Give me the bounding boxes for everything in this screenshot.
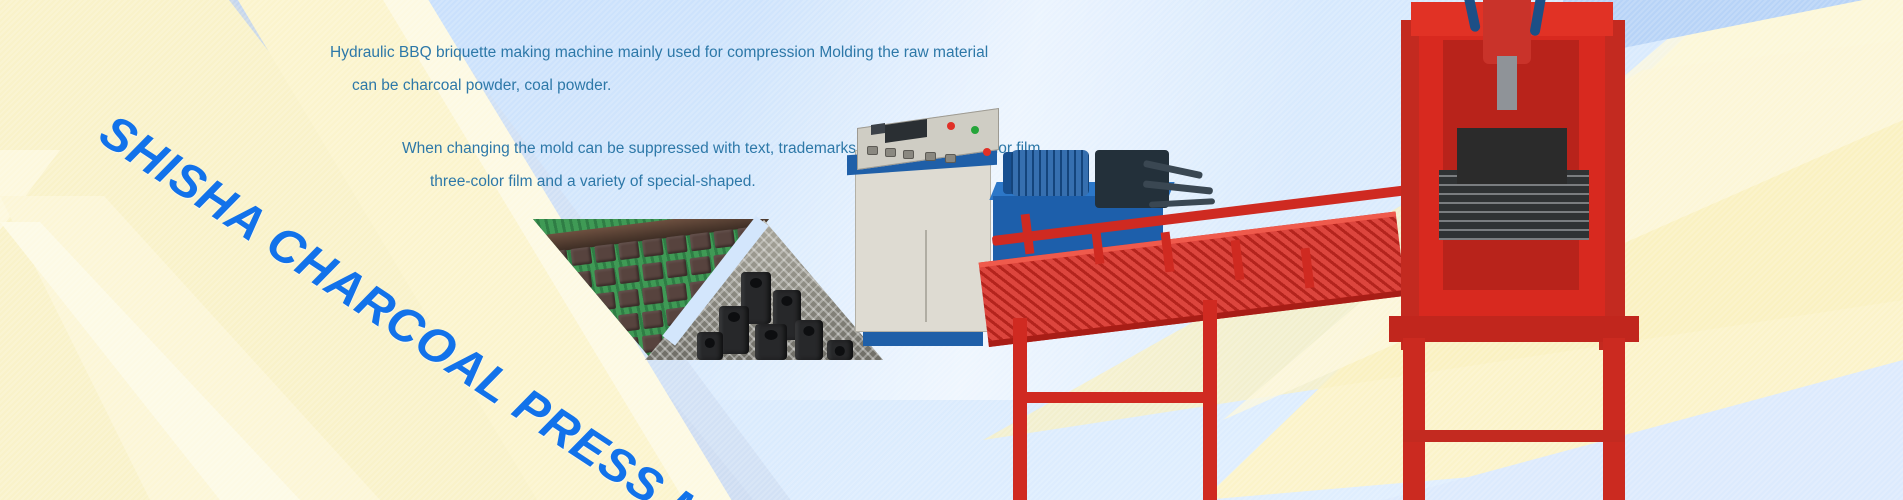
- control-knob[interactable]: [903, 150, 914, 159]
- press-leg-left: [1403, 338, 1425, 500]
- charcoal-tube: [795, 320, 823, 360]
- electric-motor: [1011, 150, 1089, 196]
- conveyor-leg: [1013, 318, 1027, 500]
- press-mold-slot: [1457, 128, 1567, 184]
- indicator-light-red: [947, 122, 955, 130]
- product-banner: SHISHA CHARCOAL PRESS MACHINE Hydraulic …: [0, 0, 1903, 500]
- hydraulic-valve-block: [1095, 150, 1169, 208]
- control-knob[interactable]: [867, 146, 878, 155]
- conveyor-cross-brace: [1015, 392, 1215, 403]
- control-knob[interactable]: [945, 154, 956, 163]
- control-knob[interactable]: [885, 148, 896, 157]
- press-cross-brace: [1403, 430, 1625, 442]
- machine-illustration: [843, 0, 1903, 500]
- control-display-small: [871, 123, 885, 135]
- press-base: [1389, 316, 1639, 342]
- control-knob[interactable]: [925, 152, 936, 161]
- press-leg-right: [1603, 338, 1625, 500]
- control-cabinet: [855, 150, 991, 332]
- charcoal-tube: [719, 306, 749, 354]
- hydraulic-cylinder: [1483, 0, 1531, 64]
- charcoal-tube: [697, 332, 723, 360]
- indicator-light-green: [971, 126, 979, 134]
- charcoal-tube: [755, 324, 787, 360]
- indicator-light-red-2: [983, 148, 991, 156]
- cabinet-door-seam: [925, 230, 927, 322]
- cylinder-rod: [1497, 56, 1517, 110]
